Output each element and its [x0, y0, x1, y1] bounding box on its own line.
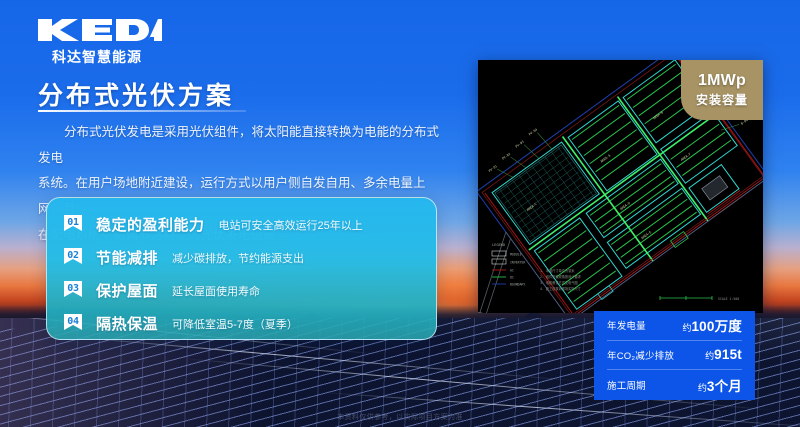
feature-item-02[interactable]: 02 节能减排 减少碳排放，节约能源支出 [47, 241, 436, 274]
feature-number-01: 01 [61, 217, 85, 228]
feature-title-03: 保护屋面 [96, 280, 158, 301]
svg-text:4. 施工前核对现场实际尺寸: 4. 施工前核对现场实际尺寸 [540, 286, 582, 291]
feature-desc-01: 电站可安全高效运行25年以上 [219, 217, 363, 233]
brand-logo[interactable]: 科达智慧能源 [32, 16, 162, 64]
feature-desc-04: 可降低室温5-7度（夏季） [172, 316, 298, 332]
feature-item-03[interactable]: 03 保护屋面 延长屋面使用寿命 [47, 274, 436, 307]
stat-label-annual-generation: 年发电量 [607, 318, 646, 332]
svg-text:SCALE 1:500: SCALE 1:500 [718, 297, 739, 301]
feature-highlights-card: 01 稳定的盈利能力 电站可安全高效运行25年以上 02 节能减排 减少碳排放，… [46, 197, 437, 340]
stat-value-annual-generation: 约100万度 [682, 315, 742, 335]
stat-row-construction-period: 施工周期 约3个月 [607, 370, 742, 400]
svg-text:LEGEND: LEGEND [492, 243, 505, 247]
feature-number-03: 03 [61, 283, 85, 294]
key-metrics-panel: 年发电量 约100万度 年CO₂减少排放 约915t 施工周期 约3个月 [594, 311, 755, 400]
feature-title-02: 节能减排 [96, 247, 158, 268]
svg-text:1. 本图尺寸单位为毫米: 1. 本图尺寸单位为毫米 [540, 268, 575, 273]
shield-number-icon: 01 [61, 213, 85, 237]
intro-line-1: 分布式光伏发电是采用光伏组件，将太阳能直接转换为电能的分布式发电 [38, 125, 439, 165]
slide-canvas: 科达智慧能源 分布式光伏方案 分布式光伏发电是采用光伏组件，将太阳能直接转换为电… [0, 0, 800, 427]
footer-disclaimer: 本资料仅供参考，以实际项目方案为准 [0, 412, 800, 422]
svg-text:MODULE: MODULE [510, 253, 522, 257]
feature-desc-03: 延长屋面使用寿命 [172, 283, 260, 299]
capacity-value: 1MWp [698, 72, 746, 90]
svg-text:BOUNDARY: BOUNDARY [510, 283, 525, 287]
feature-item-04[interactable]: 04 隔热保温 可降低室温5-7度（夏季） [47, 307, 436, 340]
shield-number-icon: 04 [61, 312, 85, 336]
feature-title-04: 隔热保温 [96, 313, 158, 334]
stat-prefix-construction-period: 约 [698, 383, 707, 393]
svg-text:3. 电缆敷设方式见电气图: 3. 电缆敷设方式见电气图 [540, 280, 578, 285]
shield-number-icon: 03 [61, 279, 85, 303]
page-title: 分布式光伏方案 [38, 76, 234, 112]
feature-item-01[interactable]: 01 稳定的盈利能力 电站可安全高效运行25年以上 [47, 208, 436, 241]
stat-number-co2-reduction: 915t [714, 347, 742, 362]
svg-text:INVERTER: INVERTER [510, 261, 525, 265]
svg-text:AC: AC [510, 269, 514, 273]
feature-desc-02: 减少碳排放，节约能源支出 [172, 250, 304, 266]
feature-title-01: 稳定的盈利能力 [96, 214, 205, 235]
pv-site-layout-cad-drawing[interactable]: PV-01 PV-02 PV-03 PV-04 B-01 B-02 B-03 B… [478, 60, 763, 313]
title-underline [38, 110, 246, 112]
capacity-badge: 1MWp 安装容量 [681, 60, 763, 120]
stat-value-co2-reduction: 约915t [705, 347, 742, 362]
capacity-label: 安装容量 [696, 91, 748, 108]
stat-label-construction-period: 施工周期 [607, 378, 646, 392]
stat-label-co2-reduction: 年CO₂减少排放 [607, 348, 674, 362]
svg-text:DC: DC [510, 276, 514, 280]
stat-prefix-co2-reduction: 约 [705, 351, 714, 361]
feature-number-02: 02 [61, 250, 85, 261]
stat-number-annual-generation: 100万度 [691, 319, 742, 334]
shield-number-icon: 02 [61, 246, 85, 270]
svg-text:2. 组件安装倾角按设计要求: 2. 组件安装倾角按设计要求 [540, 274, 582, 279]
brand-name-cn: 科达智慧能源 [32, 50, 162, 64]
keda-wordmark-logo [32, 16, 162, 49]
stat-value-construction-period: 约3个月 [698, 375, 742, 395]
stat-row-co2-reduction: 年CO₂减少排放 约915t [607, 341, 742, 371]
stat-row-annual-generation: 年发电量 约100万度 [607, 311, 742, 341]
feature-number-04: 04 [61, 316, 85, 327]
stat-number-construction-period: 3个月 [707, 379, 742, 394]
